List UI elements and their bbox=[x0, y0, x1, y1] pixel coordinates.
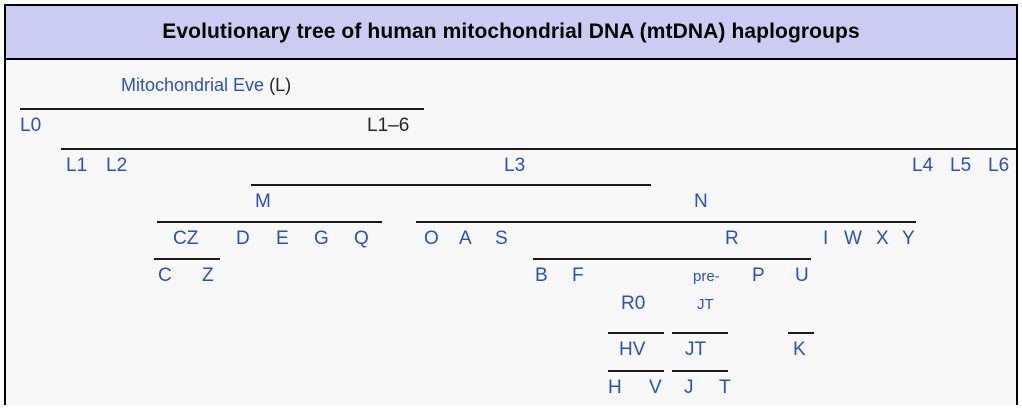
tree-canvas: Mitochondrial Eve (L) L0 L1–6 L1 L2 L3 L… bbox=[6, 60, 1016, 405]
mtdna-haplogroup-tree-figure: Evolutionary tree of human mitochondrial… bbox=[0, 0, 1022, 409]
page-title: Evolutionary tree of human mitochondrial… bbox=[162, 20, 859, 44]
node-F[interactable]: F bbox=[572, 266, 584, 285]
mitochondrial-eve-link[interactable]: Mitochondrial Eve bbox=[121, 75, 264, 95]
mitochondrial-eve-label[interactable]: Mitochondrial Eve (L) bbox=[121, 76, 291, 94]
node-Z[interactable]: Z bbox=[202, 266, 214, 285]
node-C[interactable]: C bbox=[158, 266, 172, 285]
node-L1[interactable]: L1 bbox=[66, 156, 87, 175]
node-P[interactable]: P bbox=[752, 266, 765, 285]
node-B[interactable]: B bbox=[535, 266, 548, 285]
node-J[interactable]: J bbox=[684, 378, 694, 397]
figure-title-bar: Evolutionary tree of human mitochondrial… bbox=[6, 6, 1016, 60]
branch-line-L3 bbox=[251, 184, 651, 186]
branch-line-N bbox=[416, 221, 916, 223]
branch-line-eve bbox=[20, 108, 424, 110]
branch-line-U bbox=[788, 332, 814, 334]
node-R0[interactable]: R0 bbox=[621, 294, 645, 313]
branch-line-M bbox=[157, 221, 382, 223]
branch-line-R bbox=[533, 258, 811, 260]
node-I[interactable]: I bbox=[823, 229, 828, 248]
node-W[interactable]: W bbox=[844, 229, 862, 248]
node-Y[interactable]: Y bbox=[902, 229, 915, 248]
node-G[interactable]: G bbox=[314, 229, 329, 248]
node-V[interactable]: V bbox=[649, 378, 662, 397]
node-R[interactable]: R bbox=[725, 229, 739, 248]
node-HV[interactable]: HV bbox=[619, 340, 645, 359]
branch-line-R0 bbox=[608, 332, 664, 334]
node-H[interactable]: H bbox=[608, 378, 622, 397]
node-O[interactable]: O bbox=[424, 229, 439, 248]
node-JT-upper[interactable]: JT bbox=[697, 297, 714, 312]
node-X[interactable]: X bbox=[876, 229, 889, 248]
node-L5[interactable]: L5 bbox=[950, 156, 971, 175]
node-L4[interactable]: L4 bbox=[912, 156, 933, 175]
figure-frame: Evolutionary tree of human mitochondrial… bbox=[4, 4, 1018, 405]
node-Q[interactable]: Q bbox=[354, 229, 369, 248]
branch-line-L1-6 bbox=[61, 148, 1016, 150]
node-U[interactable]: U bbox=[795, 266, 809, 285]
node-L1-6: L1–6 bbox=[367, 116, 409, 135]
node-M[interactable]: M bbox=[255, 192, 271, 211]
mitochondrial-eve-suffix: (L) bbox=[264, 75, 291, 95]
branch-line-JT bbox=[672, 370, 728, 372]
node-pre[interactable]: pre- bbox=[693, 269, 720, 284]
node-N[interactable]: N bbox=[694, 192, 708, 211]
node-T[interactable]: T bbox=[719, 378, 731, 397]
branch-line-HV bbox=[608, 370, 664, 372]
node-CZ[interactable]: CZ bbox=[173, 229, 198, 248]
node-L3[interactable]: L3 bbox=[504, 156, 525, 175]
node-A[interactable]: A bbox=[459, 229, 472, 248]
node-S[interactable]: S bbox=[495, 229, 508, 248]
node-L2[interactable]: L2 bbox=[106, 156, 127, 175]
node-JT[interactable]: JT bbox=[685, 340, 706, 359]
branch-line-CZ bbox=[154, 258, 220, 260]
node-E[interactable]: E bbox=[276, 229, 289, 248]
node-L6[interactable]: L6 bbox=[988, 156, 1009, 175]
branch-line-preJT bbox=[672, 332, 728, 334]
node-K[interactable]: K bbox=[793, 340, 806, 359]
node-D[interactable]: D bbox=[236, 229, 250, 248]
node-L0[interactable]: L0 bbox=[20, 116, 41, 135]
